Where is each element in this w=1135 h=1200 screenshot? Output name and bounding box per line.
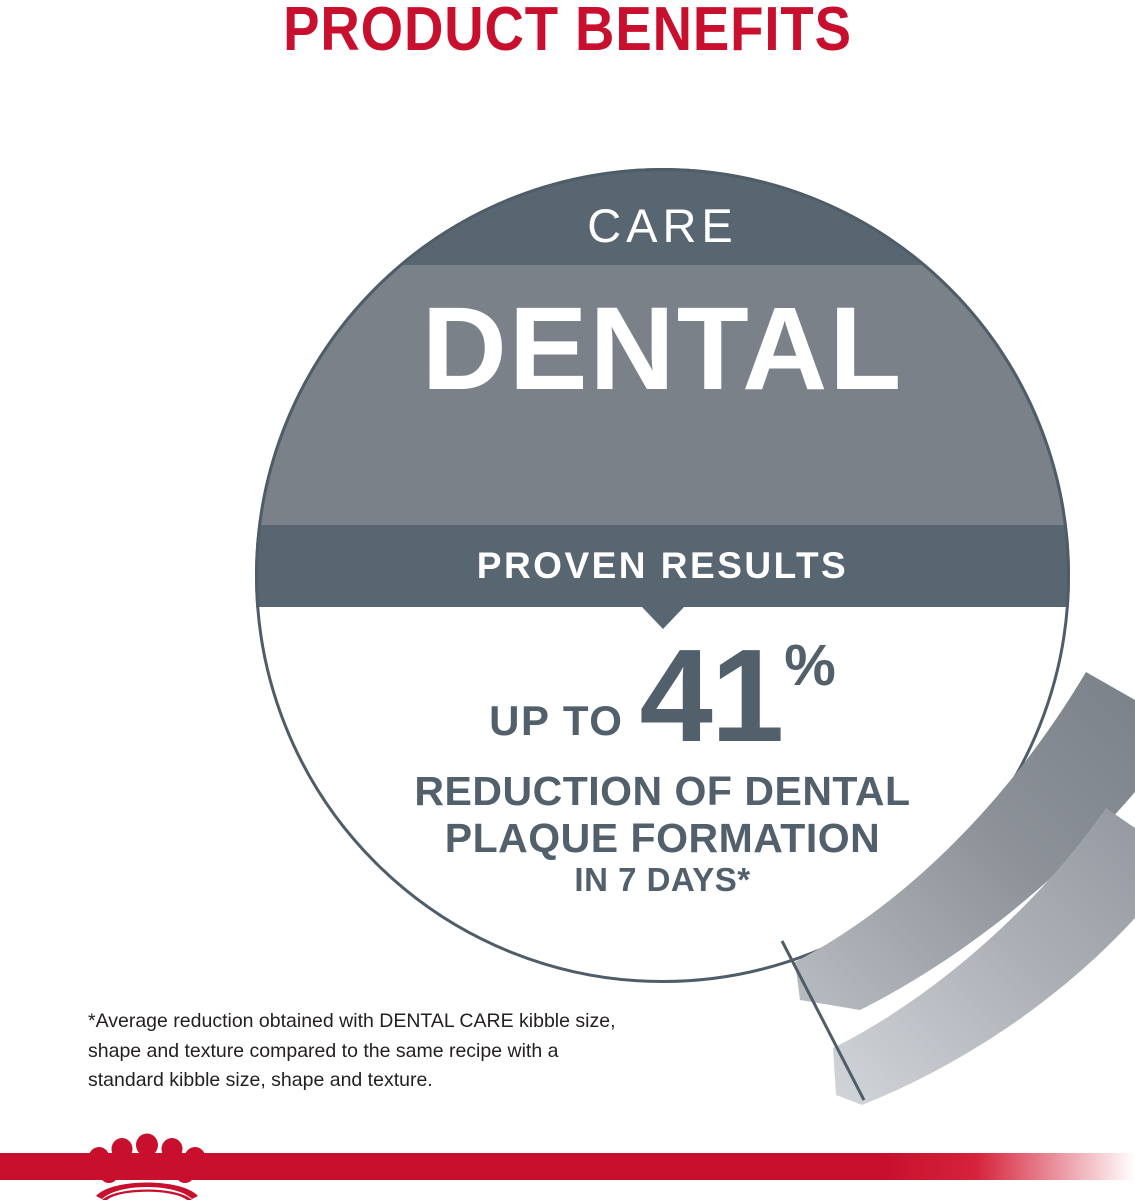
stat-description: REDUCTION OF DENTAL PLAQUE FORMATION IN … xyxy=(255,768,1070,899)
proven-results-label: PROVEN RESULTS xyxy=(255,545,1070,587)
product-benefits-panel: PRODUCT BENEFITS CARE DENTAL PROVEN RESU… xyxy=(0,0,1135,1200)
dental-label: DENTAL xyxy=(255,288,1070,412)
stat-description-line: IN 7 DAYS* xyxy=(255,861,1070,899)
stat-unit: % xyxy=(784,633,836,698)
footnote-line: *Average reduction obtained with DENTAL … xyxy=(88,1007,748,1037)
stat-value: 41 xyxy=(639,622,782,769)
footnote-line: shape and texture compared to the same r… xyxy=(88,1037,748,1067)
stat-description-line: REDUCTION OF DENTAL xyxy=(255,768,1070,815)
royal-canin-crown-logo xyxy=(82,1128,212,1200)
footnote-line: standard kibble size, shape and texture. xyxy=(88,1066,748,1096)
stat-headline: UP TO41% xyxy=(255,620,1070,771)
stat-prefix: UP TO xyxy=(489,697,623,744)
page-title: PRODUCT BENEFITS xyxy=(68,0,1067,65)
care-label: CARE xyxy=(255,198,1070,253)
footnote: *Average reduction obtained with DENTAL … xyxy=(88,1007,748,1096)
dental-care-badge: CARE DENTAL PROVEN RESULTS UP TO41% REDU… xyxy=(255,168,1070,983)
stat-description-line: PLAQUE FORMATION xyxy=(255,815,1070,862)
